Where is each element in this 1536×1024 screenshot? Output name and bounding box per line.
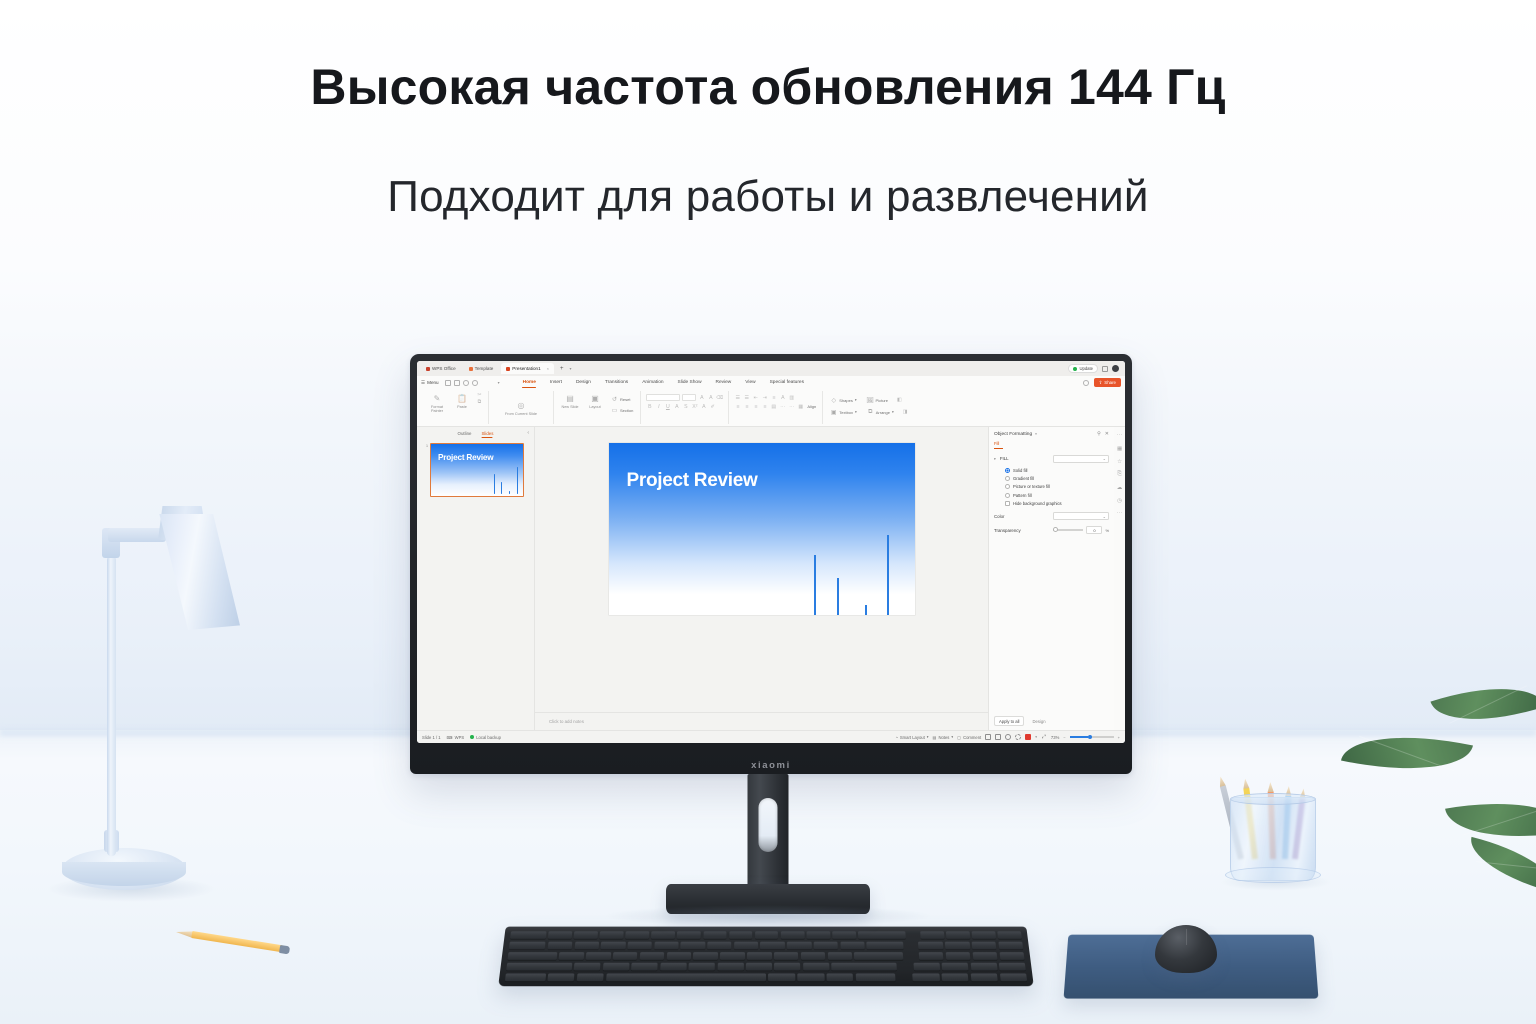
textbox-label: Textbox	[839, 410, 853, 415]
tab-special-features[interactable]: Special features	[763, 380, 811, 385]
tab-label: Template	[475, 366, 494, 371]
slide-sorter-view-icon[interactable]	[995, 734, 1001, 740]
transparency-controls: 0 %	[1053, 526, 1109, 534]
checkbox-hide-background-graphics[interactable]: Hide background graphics	[1005, 501, 1109, 506]
menu-button[interactable]: ☰ Menu	[421, 380, 444, 386]
radio-label: Picture or texture fill	[1013, 484, 1050, 489]
cloud-icon[interactable]: ☁	[1116, 484, 1123, 491]
radio-icon	[1005, 476, 1010, 481]
presenter-view-icon[interactable]	[1015, 734, 1021, 740]
share-button[interactable]: ⇪ Share	[1094, 378, 1121, 387]
picture-icon: 🖼	[867, 397, 874, 404]
shapes-label: Shapes	[839, 398, 853, 403]
print-icon[interactable]	[454, 380, 460, 386]
italic-icon[interactable]: I	[655, 403, 662, 410]
normal-view-icon[interactable]	[985, 734, 991, 740]
presentation-icon	[506, 367, 510, 371]
chevron-down-icon[interactable]: ▾	[570, 366, 572, 371]
shapes-icon: ◇	[830, 397, 837, 404]
backup-status[interactable]: Local backup	[470, 735, 501, 740]
drawing-controls: ◇ Shapes ▾ 🖼 Picture ◧	[828, 395, 908, 417]
clipboard-small-buttons: ✂ ⧉	[476, 391, 483, 406]
drawing-row-1: ◇ Shapes ▾ 🖼 Picture ◧	[828, 395, 908, 405]
update-status-icon	[1073, 367, 1077, 371]
slide-counter: Slide 1 / 1	[422, 735, 441, 740]
monitor-screen: WPS Office Template Presentation1 × + ▾	[417, 361, 1125, 743]
layout-button[interactable]: ▣ Layout	[584, 391, 606, 409]
pin-icon[interactable]: ⚲	[1097, 431, 1101, 437]
zoom-in-icon[interactable]: +	[1118, 735, 1120, 740]
font-size-input[interactable]	[682, 394, 696, 401]
tab-template[interactable]: Template	[464, 363, 499, 374]
pencil-eraser	[279, 944, 290, 953]
comment-label: Comment	[963, 735, 981, 740]
collapse-panel-icon[interactable]: ‹	[527, 430, 529, 436]
drawing-row-2: ▣ Textbox ▾ ⧉ Arrange ▾ ◨	[828, 407, 908, 417]
reading-view-icon[interactable]	[1005, 734, 1011, 740]
bullet-list-icon[interactable]: ☰	[734, 394, 741, 401]
monitor-stand-cable-hole	[759, 798, 778, 852]
ai-assistant-icon[interactable]: ▦	[1116, 445, 1123, 452]
line-spacing-icon[interactable]: ≡	[770, 394, 777, 401]
layout-icon: ▣	[590, 393, 601, 404]
chart-bar-2	[837, 578, 840, 615]
fill-tab[interactable]: Fill	[994, 441, 1003, 449]
transparency-row: Transparency 0 %	[994, 526, 1109, 534]
apply-to-all-button[interactable]: Apply to all	[994, 716, 1024, 726]
mouse-button-split	[1186, 929, 1187, 945]
ribbon-right-group: ⇪ Share	[1082, 378, 1121, 387]
radio-picture-texture-fill[interactable]: Picture or texture fill	[1005, 484, 1109, 489]
tab-wps-office[interactable]: WPS Office	[421, 363, 461, 374]
arrange-label: Arrange	[876, 410, 890, 415]
format-painter-label: Format Painter	[426, 405, 448, 414]
textbox-icon: ▣	[830, 409, 837, 416]
justify-icon[interactable]: ≡	[761, 403, 768, 410]
align-right-icon[interactable]: ≡	[752, 403, 759, 410]
percent-unit: %	[1105, 528, 1109, 533]
transparency-slider[interactable]	[1053, 529, 1083, 530]
close-icon[interactable]: ✕	[1105, 431, 1109, 437]
increase-font-icon[interactable]: A	[698, 394, 705, 401]
paste-label: Paste	[457, 405, 467, 409]
ribbon-tabs: Home Insert Design Transitions Animation…	[516, 380, 811, 385]
slide-thumbnail-list: 1 Project Review	[417, 439, 534, 497]
keyboard[interactable]	[498, 927, 1034, 987]
reset-icon: ↺	[611, 396, 618, 403]
distribute-icon[interactable]: ▤	[770, 403, 777, 410]
numbered-list-icon[interactable]: ☰	[743, 394, 750, 401]
section-icon: ▭	[611, 407, 618, 414]
chevron-down-icon[interactable]: ▾	[1035, 735, 1037, 739]
page-subtitle: Подходит для работы и развлечений	[0, 172, 1536, 222]
align-left-icon[interactable]: ≡	[734, 403, 741, 410]
cup-foot	[1225, 867, 1321, 883]
fill-preset-dropdown[interactable]: ⌄	[1053, 455, 1109, 463]
pencil-body	[191, 931, 283, 952]
statusbar-right-group: ◔ Smart Layout ▾ ▤ Notes ▾ ▢	[895, 734, 1120, 740]
font-style-row: B I U A S X² A ✐	[646, 403, 723, 410]
ribbon-toolbar: ✎ Format Painter 📋 Paste ✂ ⧉	[417, 389, 1125, 427]
underline-icon[interactable]: U	[664, 403, 671, 410]
radio-icon	[1005, 493, 1010, 498]
product-scene: Высокая частота обновления 144 Гц Подход…	[0, 0, 1536, 1024]
font-name-row: A A ⌫	[646, 394, 723, 401]
chart-bar-4	[887, 535, 890, 615]
picture-label: Picture	[876, 398, 888, 403]
radio-label: Solid fill	[1013, 468, 1027, 473]
checkbox-label: Hide background graphics	[1013, 501, 1062, 506]
wps-logo-icon	[426, 367, 430, 371]
paragraph-row-1: ☰ ☰ ⇤ ⇥ ≡ A ▥	[734, 394, 817, 401]
keyboard-row	[509, 942, 1023, 950]
tab-design[interactable]: Design	[569, 380, 598, 385]
monitor: WPS Office Template Presentation1 × + ▾	[410, 354, 1132, 774]
update-label: Update	[1079, 366, 1093, 371]
arrange-icon: ⧉	[867, 409, 874, 416]
cup-rim	[1230, 793, 1316, 805]
clear-format-icon[interactable]: ⌫	[716, 394, 723, 401]
favorites-icon[interactable]: ☆	[1116, 458, 1123, 465]
lamp-arm	[108, 528, 166, 542]
expand-caret-icon[interactable]: ▾	[994, 457, 996, 461]
history-icon[interactable]: ◷	[1116, 497, 1123, 504]
ribbon-tab-bar: ☰ Menu ▾ Home Insert Design	[417, 376, 1125, 389]
notes-placeholder: Click to add notes	[549, 719, 584, 724]
slide-number: 1	[426, 443, 428, 497]
from-current-slide-button[interactable]: ◎ From Current Slide	[494, 398, 548, 416]
tab-outline[interactable]: Outline	[458, 431, 472, 436]
ribbon-group-clipboard: ✎ Format Painter 📋 Paste ✂ ⧉	[421, 391, 489, 424]
panel-footer: Apply to all Design	[994, 716, 1109, 730]
from-current-slide-label: From Current Slide	[505, 412, 537, 416]
reset-button[interactable]: ↺ Reset	[609, 394, 635, 404]
paste-button[interactable]: 📋 Paste	[451, 391, 473, 409]
tab-slides[interactable]: Slides	[481, 431, 493, 436]
panel-title: Object Formatting	[994, 432, 1032, 437]
right-icon-rail: ⋯ ▦ ☆ ⎘ ☁ ◷ ⋯	[1114, 427, 1125, 730]
chart-bar-3	[865, 605, 868, 615]
redo-icon[interactable]	[490, 380, 496, 386]
fill-section-row: ▾ FILL ⌄	[994, 455, 1109, 463]
app-name-status: ⌨ WPS	[447, 735, 465, 740]
align-center-icon[interactable]: ≡	[743, 403, 750, 410]
backup-status-label: Local backup	[476, 735, 501, 740]
notes-pane[interactable]: Click to add notes	[535, 712, 988, 730]
decrease-font-icon[interactable]: A	[707, 394, 714, 401]
wps-titlebar: WPS Office Template Presentation1 × + ▾	[417, 361, 1125, 376]
keyboard-row	[505, 973, 1027, 981]
save-icon[interactable]	[445, 380, 451, 386]
slides-panel-tabs: Outline Slides ‹	[417, 427, 534, 439]
slides-panel: Outline Slides ‹ 1 Project Review	[417, 427, 535, 730]
monitor-brand-logo: xiaomi	[410, 760, 1132, 771]
increase-indent-icon[interactable]: ⇥	[761, 394, 768, 401]
monitor-stand-shadow	[603, 905, 933, 927]
undo-icon[interactable]	[463, 380, 469, 386]
tab-home[interactable]: Home	[516, 380, 543, 385]
radio-gradient-fill[interactable]: Gradient fill	[1005, 476, 1109, 481]
fit-window-icon[interactable]: ⤢	[1041, 734, 1047, 740]
ribbon-group-drawing: ◇ Shapes ▾ 🖼 Picture ◧	[823, 391, 913, 424]
textbox-button[interactable]: ▣ Textbox ▾	[828, 407, 859, 417]
ribbon-group-font: A A ⌫ B I U A S X²	[641, 391, 729, 424]
shape-outline-icon[interactable]: ◨	[902, 409, 909, 416]
tab-insert[interactable]: Insert	[543, 380, 569, 385]
smart-layout-label: Smart Layout	[900, 735, 925, 740]
new-slide-label: New Slide	[561, 405, 578, 409]
shape-fill-icon[interactable]: ◧	[896, 397, 903, 404]
smart-layout-icon: ◔	[895, 735, 898, 740]
search-icon[interactable]	[472, 380, 478, 386]
slider-knob[interactable]	[1053, 527, 1058, 532]
chart-bar-1	[814, 555, 817, 615]
panel-header-actions: ⚲ ✕	[1097, 431, 1109, 437]
wps-icon: ⌨	[447, 735, 453, 740]
template-icon	[469, 367, 473, 371]
tab-view[interactable]: View	[738, 380, 762, 385]
leaf	[1463, 837, 1536, 893]
slide-canvas-area: Project Review Click to add notes	[535, 427, 988, 730]
new-tab-button[interactable]: +	[557, 366, 567, 372]
zoom-slider-fill	[1070, 736, 1088, 737]
comment-button[interactable]: ▢ Comment	[957, 735, 981, 740]
tab-label: Presentation1	[512, 366, 540, 371]
close-icon[interactable]: ×	[547, 366, 549, 371]
arrange-button[interactable]: ⧉ Arrange ▾	[865, 407, 896, 417]
notes-button[interactable]: ▤ Notes ▾	[932, 735, 953, 740]
picture-button[interactable]: 🖼 Picture	[865, 395, 890, 405]
keyboard-row	[506, 962, 1026, 970]
notes-label: Notes	[938, 735, 949, 740]
transparency-input[interactable]: 0	[1086, 526, 1102, 534]
wps-workarea: Outline Slides ‹ 1 Project Review	[417, 427, 1125, 730]
menu-label: Menu	[427, 380, 439, 385]
leaf	[1430, 668, 1536, 739]
align-top-icon[interactable]: ⋯	[779, 403, 786, 410]
object-formatting-panel: Object Formatting ▾ ⚲ ✕ Fill ▾ FILL	[988, 427, 1114, 730]
update-button[interactable]: Update	[1068, 364, 1098, 373]
smart-layout-button[interactable]: ◔ Smart Layout ▾	[895, 735, 928, 740]
comment-icon: ▢	[957, 735, 961, 740]
decrease-indent-icon[interactable]: ⇤	[752, 394, 759, 401]
wps-statusbar: Slide 1 / 1 ⌨ WPS Local backup ◔	[417, 730, 1125, 743]
slide-title[interactable]: Project Review	[627, 470, 758, 492]
play-icon: ◎	[516, 400, 527, 411]
layout-toggle-icon[interactable]	[1102, 366, 1108, 372]
reset-label: Reset	[620, 397, 630, 402]
color-label: Color	[994, 514, 1005, 519]
align-button[interactable]: Align	[806, 404, 817, 409]
new-slide-icon: ▤	[565, 393, 576, 404]
record-icon[interactable]	[1025, 734, 1031, 740]
overflow-icon[interactable]: ⋯	[1116, 510, 1123, 517]
ribbon-group-slides: ▤ New Slide ▣ Layout ↺ Reset	[554, 391, 641, 424]
radio-pattern-fill[interactable]: Pattern fill	[1005, 493, 1109, 498]
zoom-slider-knob[interactable]	[1088, 735, 1092, 739]
radio-label: Pattern fill	[1013, 493, 1032, 498]
slides-small-buttons: ↺ Reset ▭ Section	[609, 394, 635, 415]
slide-thumbnail-1[interactable]: Project Review	[430, 443, 524, 497]
layout-label: Layout	[589, 405, 600, 409]
cut-icon[interactable]: ✂	[476, 391, 483, 398]
lamp-pole	[107, 556, 116, 856]
pencil-cup	[1222, 755, 1326, 885]
titlebar-right-group: Update	[1068, 364, 1121, 373]
slide-canvas[interactable]: Project Review	[609, 443, 915, 615]
keyboard-row	[510, 931, 1022, 939]
design-button[interactable]: Design	[1028, 717, 1049, 725]
page-title: Высокая частота обновления 144 Гц	[0, 58, 1536, 116]
fill-section-label: FILL	[1000, 456, 1009, 461]
color-row: Color ⌄	[994, 512, 1109, 520]
checkbox-icon	[1005, 501, 1010, 506]
backup-status-icon	[470, 735, 474, 739]
align-middle-icon[interactable]: ⋯	[788, 403, 795, 410]
ribbon-group-slideshow: ◎ From Current Slide	[489, 391, 554, 424]
transparency-label: Transparency	[994, 528, 1021, 533]
notes-icon: ▤	[932, 735, 936, 740]
desk-lamp	[72, 500, 272, 930]
paragraph-row-2: ≡ ≡ ≡ ≡ ▤ ⋯ ⋯ ▦ Align	[734, 403, 817, 410]
tab-label: WPS Office	[432, 366, 456, 371]
panel-header: Object Formatting ▾ ⚲ ✕	[994, 431, 1109, 437]
fill-options-list: Solid fill Gradient fill Picture or text…	[994, 468, 1109, 507]
chevron-down-icon[interactable]: ▾	[498, 380, 500, 385]
share-label: Share	[1104, 380, 1116, 385]
radio-label: Gradient fill	[1013, 476, 1034, 481]
avatar[interactable]	[1112, 365, 1119, 372]
text-shadow-icon[interactable]: A	[673, 403, 680, 410]
tab-animation[interactable]: Animation	[635, 380, 670, 385]
share-icon: ⇪	[1099, 380, 1103, 386]
zoom-out-icon[interactable]: −	[1063, 735, 1065, 740]
chevron-down-icon[interactable]: ▾	[1035, 432, 1037, 436]
section-button[interactable]: ▭ Section	[609, 405, 635, 415]
text-direction-icon[interactable]: A	[779, 394, 786, 401]
copy-icon[interactable]: ⧉	[476, 399, 483, 406]
paragraph-controls: ☰ ☰ ⇤ ⇥ ≡ A ▥ ≡ ≡	[734, 394, 817, 410]
radio-icon	[1005, 468, 1010, 473]
more-options-icon[interactable]: ⋯	[1116, 432, 1123, 439]
font-family-input[interactable]	[646, 394, 680, 401]
shapes-button[interactable]: ◇ Shapes ▾	[828, 395, 858, 405]
thumbnail-title: Project Review	[438, 453, 493, 462]
align-label: Align	[807, 404, 816, 409]
paste-icon: 📋	[457, 393, 468, 404]
ribbon-group-paragraph: ☰ ☰ ⇤ ⇥ ≡ A ▥ ≡ ≡	[729, 391, 823, 424]
font-color-icon[interactable]: A	[700, 403, 707, 410]
highlight-color-icon[interactable]: ✐	[709, 403, 716, 410]
new-slide-button[interactable]: ▤ New Slide	[559, 391, 581, 409]
hamburger-icon: ☰	[421, 380, 425, 386]
superscript-icon[interactable]: X²	[691, 403, 698, 410]
radio-solid-fill[interactable]: Solid fill	[1005, 468, 1109, 473]
tab-presentation1[interactable]: Presentation1 ×	[501, 363, 554, 374]
zoom-slider[interactable]	[1070, 736, 1114, 737]
zoom-level[interactable]: 73%	[1051, 735, 1059, 740]
tab-review[interactable]: Review	[709, 380, 739, 385]
tab-transitions[interactable]: Transitions	[598, 380, 635, 385]
plant-leaves	[1316, 690, 1536, 920]
smartart-icon[interactable]: ▦	[797, 403, 804, 410]
app-name-label: WPS	[455, 735, 465, 740]
resources-icon[interactable]: ⎘	[1116, 471, 1123, 478]
format-painter-icon: ✎	[432, 393, 443, 404]
wps-office-window: WPS Office Template Presentation1 × + ▾	[417, 361, 1125, 743]
columns-icon[interactable]: ▥	[788, 394, 795, 401]
font-controls: A A ⌫ B I U A S X²	[646, 394, 723, 410]
color-dropdown[interactable]: ⌄	[1053, 512, 1109, 520]
leaf	[1341, 719, 1473, 786]
monitor-bezel: WPS Office Template Presentation1 × + ▾	[410, 354, 1132, 774]
strikethrough-icon[interactable]: S	[682, 403, 689, 410]
radio-icon	[1005, 484, 1010, 489]
section-label: Section	[620, 408, 633, 413]
tab-slide-show[interactable]: Slide Show	[671, 380, 709, 385]
keyboard-row	[507, 952, 1024, 960]
help-circle-icon[interactable]	[1083, 380, 1089, 386]
format-painter-button[interactable]: ✎ Format Painter	[426, 391, 448, 414]
bold-icon[interactable]: B	[646, 403, 653, 410]
help-icon[interactable]	[481, 380, 487, 386]
